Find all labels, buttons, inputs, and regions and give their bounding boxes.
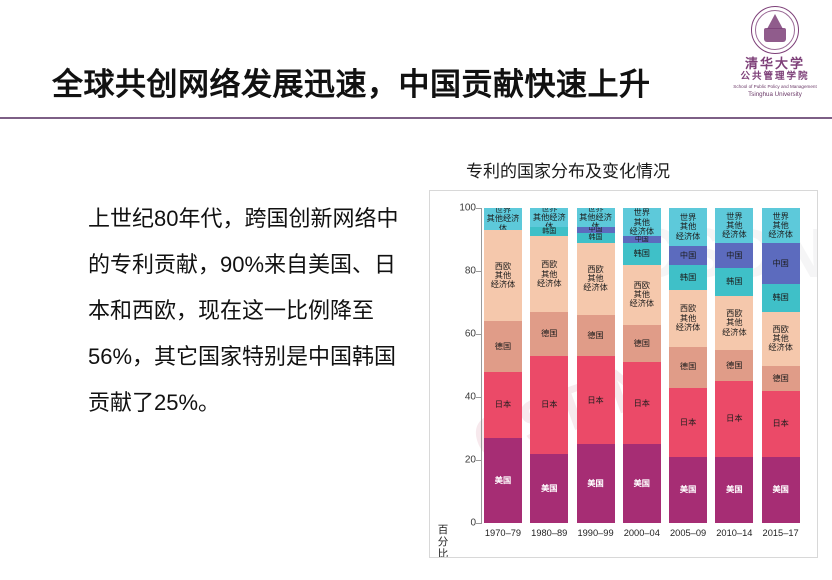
bar-segment-label: 西欧其他经济体: [767, 325, 794, 353]
bar-segment-label: 中国: [725, 251, 743, 260]
bar-segment[interactable]: 中国: [577, 227, 615, 233]
bar-segment[interactable]: 德国: [762, 366, 800, 391]
bar-segment[interactable]: 日本: [623, 362, 661, 444]
title-divider: [0, 117, 832, 119]
bar-segment-label: 世界其他经济体: [629, 208, 656, 236]
bar-segment-label: 日本: [586, 396, 604, 405]
bar-segment-label: 日本: [494, 400, 512, 409]
bar-2005-09[interactable]: 美国日本德国西欧其他经济体韩国中国世界其他经济体: [669, 208, 707, 523]
bar-segment[interactable]: 中国: [762, 243, 800, 284]
bar-segment-label: 韩国: [725, 277, 743, 286]
bar-segment[interactable]: 日本: [484, 372, 522, 438]
bar-segment-label: 日本: [633, 399, 651, 408]
y-tick-label: 100: [442, 203, 476, 214]
bar-2010-14[interactable]: 美国日本德国西欧其他经济体韩国中国世界其他经济体: [715, 208, 753, 523]
logo-cn-line1: 清华大学: [745, 57, 805, 71]
bar-segment-label: 韩国: [771, 293, 789, 302]
bar-segment[interactable]: 德国: [577, 315, 615, 356]
bar-2000-04[interactable]: 美国日本德国西欧其他经济体韩国中国世界其他经济体: [623, 208, 661, 523]
bar-segment[interactable]: 中国: [669, 246, 707, 265]
bar-segment-label: 世界其他经济体: [577, 208, 615, 227]
bar-1970-79[interactable]: 美国日本德国西欧其他经济体世界其他经济体: [484, 208, 522, 523]
tsinghua-sppm-logo: 清华大学 公共管理学院 School of Public Policy and …: [734, 4, 816, 108]
bar-segment[interactable]: 德国: [530, 312, 568, 356]
bar-1990-99[interactable]: 美国日本德国西欧其他经济体韩国中国世界其他经济体: [577, 208, 615, 523]
bar-segment[interactable]: 西欧其他经济体: [484, 230, 522, 321]
bar-segment[interactable]: 美国: [762, 457, 800, 523]
bar-segment[interactable]: 美国: [530, 454, 568, 523]
bar-segment-label: 美国: [540, 484, 558, 493]
bar-segment-label: 西欧其他经济体: [490, 262, 517, 290]
bar-segment[interactable]: 西欧其他经济体: [715, 296, 753, 350]
bar-segment[interactable]: 日本: [530, 356, 568, 454]
bar-segment-label: 德国: [586, 331, 604, 340]
bar-segment-label: 韩国: [588, 234, 604, 242]
chart-figure: CSDN CSDN 百分比 020406080100 美国日本德国西欧其他经济体…: [429, 190, 818, 558]
bar-segment-label: 西欧其他经济体: [675, 304, 702, 332]
bar-segment-label: 世界其他经济体: [530, 208, 568, 227]
bar-segment-label: 西欧其他经济体: [721, 309, 748, 337]
bar-segment-label: 中国: [588, 227, 604, 233]
bar-segment-label: 德国: [633, 339, 651, 348]
bar-segment-label: 中国: [679, 251, 697, 260]
bar-segment-label: 德国: [494, 342, 512, 351]
bar-segment[interactable]: 世界其他经济体: [577, 208, 615, 227]
bar-segment[interactable]: 德国: [623, 325, 661, 363]
bar-segment[interactable]: 韩国: [762, 284, 800, 312]
bar-segment[interactable]: 日本: [715, 381, 753, 457]
bar-segment[interactable]: 世界其他经济体: [484, 208, 522, 230]
bar-segment-label: 日本: [725, 414, 743, 423]
bar-segment-label: 世界其他经济体: [767, 212, 794, 240]
page-title: 全球共创网络发展迅速，中国贡献快速上升: [52, 65, 742, 105]
bar-segment-label: 中国: [771, 259, 789, 268]
bar-segment[interactable]: 美国: [715, 457, 753, 523]
bar-segment-label: 世界其他经济体: [484, 208, 522, 230]
bar-segment-label: 日本: [540, 400, 558, 409]
bar-segment[interactable]: 世界其他经济体: [669, 208, 707, 246]
bar-segment[interactable]: 美国: [577, 444, 615, 523]
bar-2015-17[interactable]: 美国日本德国西欧其他经济体韩国中国世界其他经济体: [762, 208, 800, 523]
bar-segment[interactable]: 美国: [669, 457, 707, 523]
bar-segment[interactable]: 西欧其他经济体: [669, 290, 707, 347]
x-tick-label: 2015–17: [754, 528, 808, 538]
logo-en-line2: Tsinghua University: [748, 90, 802, 99]
bar-segment-label: 日本: [679, 418, 697, 427]
chart-caption: 专利的国家分布及变化情况: [466, 157, 766, 182]
bar-segment-label: 西欧其他经济体: [536, 260, 563, 288]
bar-segment[interactable]: 美国: [484, 438, 522, 523]
bar-segment[interactable]: 美国: [623, 444, 661, 523]
bar-segment[interactable]: 德国: [715, 350, 753, 382]
slide-body-text: 上世纪80年代，跨国创新网络中的专利贡献，90%来自美国、日本和西欧，现在这一比…: [88, 196, 408, 426]
bar-segment[interactable]: 德国: [669, 347, 707, 388]
slide: 全球共创网络发展迅速，中国贡献快速上升 清华大学 公共管理学院 School o…: [0, 0, 832, 580]
bar-segment[interactable]: 世界其他经济体: [762, 208, 800, 243]
bar-segment-label: 西欧其他经济体: [582, 265, 609, 293]
bar-segment[interactable]: 日本: [577, 356, 615, 444]
bar-segment-label: 世界其他经济体: [675, 213, 702, 241]
bar-segment[interactable]: 西欧其他经济体: [530, 236, 568, 312]
bars-container: 美国日本德国西欧其他经济体世界其他经济体美国日本德国西欧其他经济体韩国世界其他经…: [482, 208, 808, 523]
y-tick-label: 20: [442, 455, 476, 466]
bar-segment-label: 美国: [679, 485, 697, 494]
bar-segment-label: 美国: [586, 479, 604, 488]
bar-segment[interactable]: 德国: [484, 321, 522, 371]
tsinghua-seal-icon: [751, 6, 799, 54]
bar-segment[interactable]: 西欧其他经济体: [577, 243, 615, 315]
bar-segment-label: 日本: [771, 419, 789, 428]
bar-segment[interactable]: 世界其他经济体: [623, 208, 661, 236]
bar-segment-label: 西欧其他经济体: [629, 281, 656, 309]
bar-segment[interactable]: 中国: [715, 243, 753, 268]
y-tick-label: 80: [442, 266, 476, 277]
y-axis-label-text: 百分比: [438, 524, 449, 558]
bar-segment-label: 世界其他经济体: [721, 212, 748, 240]
bar-segment[interactable]: 日本: [669, 388, 707, 457]
bar-segment-label: 韩国: [633, 249, 651, 258]
bar-1980-89[interactable]: 美国日本德国西欧其他经济体韩国世界其他经济体: [530, 208, 568, 523]
bar-segment-label: 韩国: [541, 228, 557, 236]
bar-segment-label: 美国: [633, 479, 651, 488]
y-tick-mark: [476, 523, 482, 524]
bar-segment[interactable]: 韩国: [577, 233, 615, 242]
bar-segment-label: 德国: [540, 329, 558, 338]
bar-segment[interactable]: 西欧其他经济体: [623, 265, 661, 325]
bar-segment[interactable]: 韩国: [715, 268, 753, 296]
y-tick-label: 60: [442, 329, 476, 340]
bar-segment[interactable]: 世界其他经济体: [530, 208, 568, 227]
bar-segment-label: 韩国: [679, 273, 697, 282]
bar-segment-label: 德国: [771, 374, 789, 383]
bar-segment-label: 德国: [725, 361, 743, 370]
y-axis-label: 百分比: [435, 524, 451, 558]
bar-segment[interactable]: 韩国: [623, 243, 661, 265]
logo-en-line1: School of Public Policy and Management: [733, 83, 817, 90]
bar-segment[interactable]: 韩国: [669, 265, 707, 290]
bar-segment-label: 美国: [725, 485, 743, 494]
bar-segment[interactable]: 日本: [762, 391, 800, 457]
bar-segment-label: 美国: [494, 476, 512, 485]
bar-segment-label: 德国: [679, 362, 697, 371]
y-tick-label: 0: [442, 518, 476, 529]
bar-segment-label: 美国: [771, 485, 789, 494]
bar-segment[interactable]: 西欧其他经济体: [762, 312, 800, 366]
bar-segment[interactable]: 韩国: [530, 227, 568, 236]
bar-segment[interactable]: 中国: [623, 236, 661, 242]
y-tick-label: 40: [442, 392, 476, 403]
bar-segment-label: 中国: [634, 236, 650, 242]
logo-cn-line2: 公共管理学院: [740, 71, 809, 83]
chart-plot-area: CSDN CSDN 百分比 020406080100 美国日本德国西欧其他经济体…: [430, 191, 817, 557]
bar-segment[interactable]: 世界其他经济体: [715, 208, 753, 243]
